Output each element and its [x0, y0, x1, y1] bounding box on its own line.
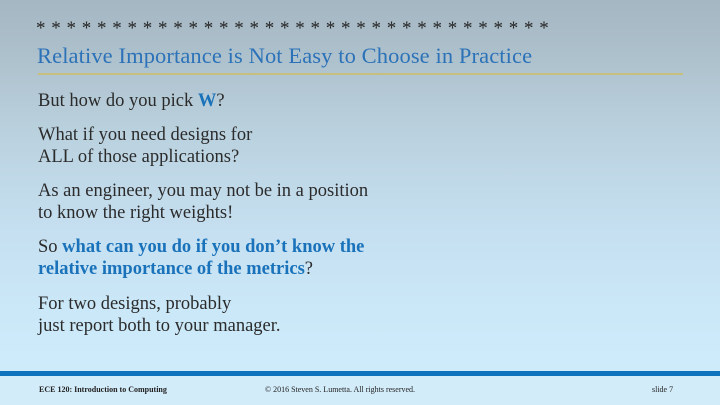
slide-title: Relative Importance is Not Easy to Choos…	[37, 41, 697, 70]
body-paragraph-4: So what can you do if you don’t know the…	[38, 236, 688, 281]
slide: * * * * * * * * * * * * * * * * * * * * …	[0, 0, 720, 405]
p1-lead-text: But how do you pick	[38, 91, 198, 111]
decorative-asterisk-row: * * * * * * * * * * * * * * * * * * * * …	[36, 17, 686, 41]
p4-tail-text: ?	[305, 259, 313, 279]
body-paragraph-5: For two designs, probably just report bo…	[38, 293, 688, 338]
p4-emphasis-text: what can you do if you don’t know the re…	[38, 237, 364, 280]
footer-copyright-label: © 2016 Steven S. Lumetta. All rights res…	[265, 385, 415, 395]
p4-lead-text: So	[38, 237, 62, 257]
slide-body: But how do you pick W? What if you need …	[38, 90, 688, 338]
p1-tail-text: ?	[216, 91, 224, 111]
p1-emphasis-w: W	[198, 91, 217, 111]
footer-course-label: ECE 120: Introduction to Computing	[39, 385, 167, 395]
body-paragraph-1: But how do you pick W?	[38, 90, 688, 113]
footer-slide-number: slide 7	[652, 385, 673, 395]
body-paragraph-2: What if you need designs for ALL of thos…	[38, 124, 688, 169]
title-divider-rule	[38, 73, 683, 75]
body-paragraph-3: As an engineer, you may not be in a posi…	[38, 180, 688, 225]
